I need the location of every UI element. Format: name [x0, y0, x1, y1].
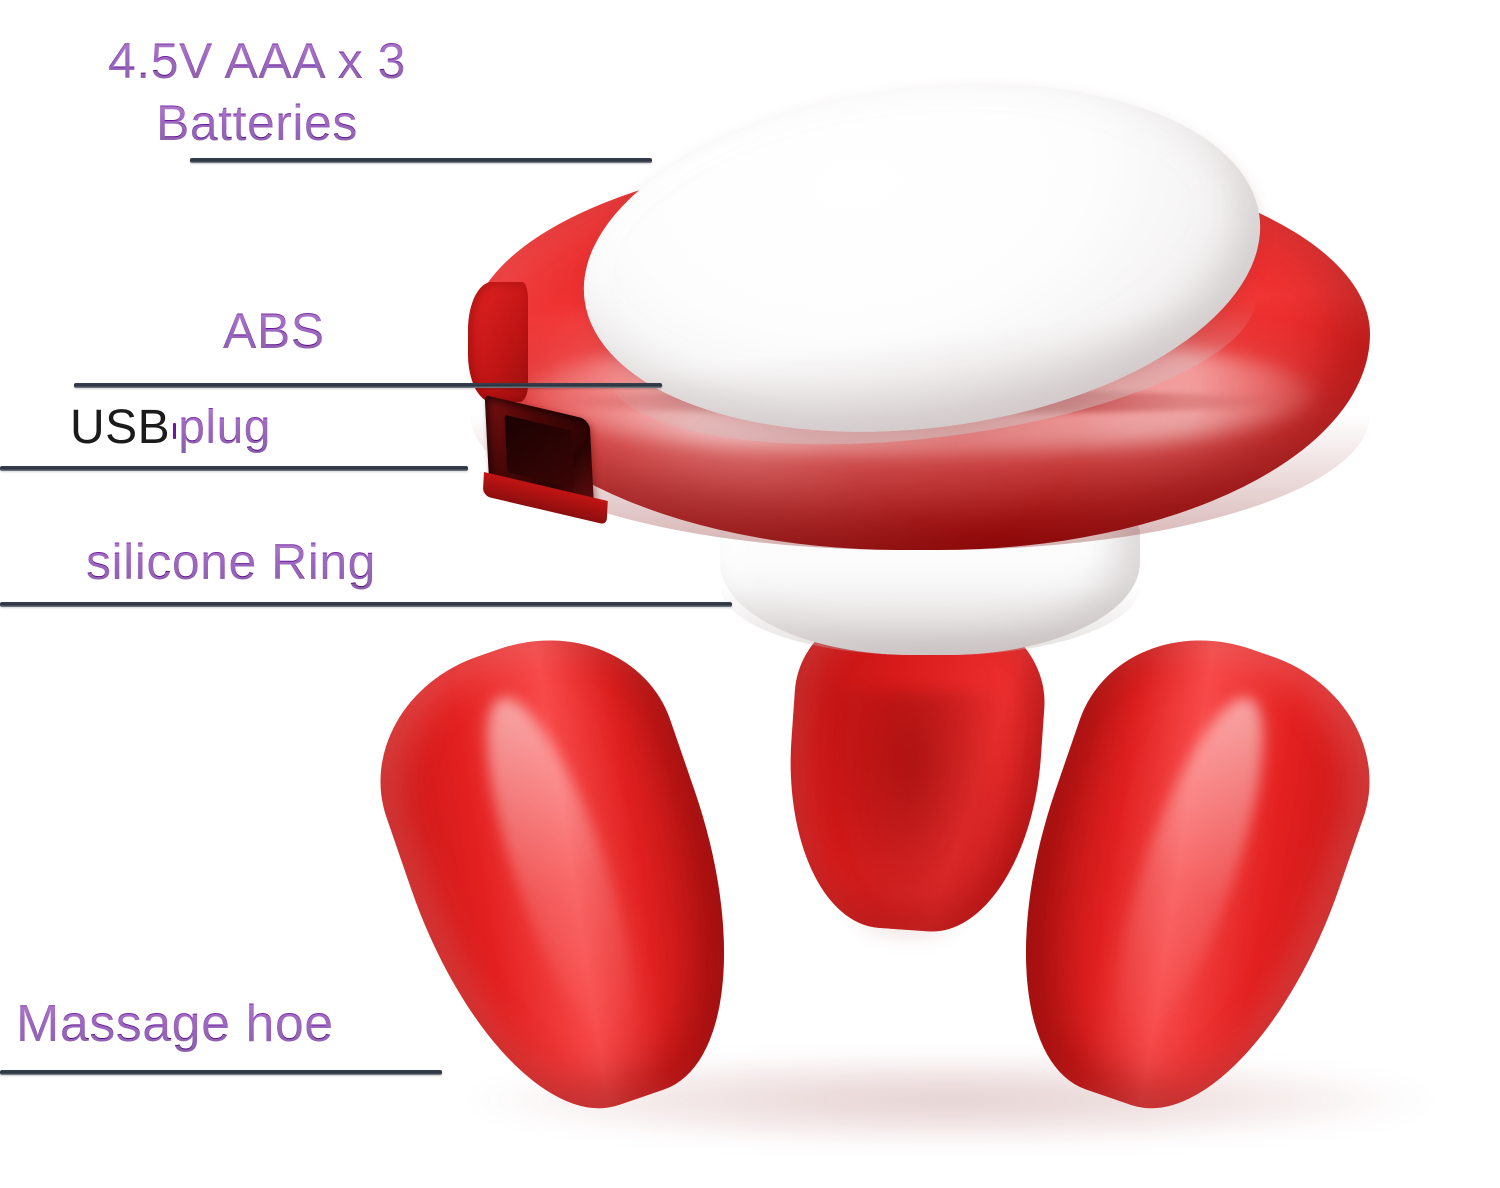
- leader-line-usb-plug: [0, 466, 468, 471]
- callout-label-massage-hoe: Massage hoe: [8, 996, 342, 1052]
- callout-label-silicone-text: silicone Ring: [86, 534, 376, 590]
- callout-label-usb-plug: USBplug: [62, 402, 279, 454]
- callout-label-massage-text: Massage hoe: [16, 995, 334, 1053]
- callout-label-abs: ABS: [215, 304, 333, 358]
- callout-label-batteries: 4.5V AAA x 3 Batteries: [100, 34, 414, 150]
- callout-label-silicone-ring: silicone Ring: [78, 535, 384, 589]
- callout-label-usb-prefix: USB: [70, 401, 170, 454]
- ring-shading: [720, 586, 1140, 655]
- leader-line-batteries: [190, 158, 652, 163]
- usb-label-separator: [173, 423, 176, 439]
- callout-label-batteries-line1: 4.5V AAA x 3: [108, 33, 406, 89]
- usb-port-opening: [504, 414, 574, 488]
- leg-junction-shadow: [816, 687, 1005, 943]
- leg-gloss-highlight: [1087, 684, 1291, 1060]
- product-annotation-image: 4.5V AAA x 3 Batteries ABS USBplug silic…: [0, 0, 1500, 1188]
- leg-gloss-highlight: [458, 684, 662, 1060]
- callout-label-usb-suffix: plug: [178, 401, 271, 454]
- callout-label-batteries-line2: Batteries: [108, 98, 406, 148]
- leader-line-abs: [74, 383, 662, 388]
- callout-label-abs-text: ABS: [223, 303, 325, 359]
- leader-line-massage-hoe: [0, 1070, 442, 1075]
- leader-line-silicone-ring: [0, 602, 732, 607]
